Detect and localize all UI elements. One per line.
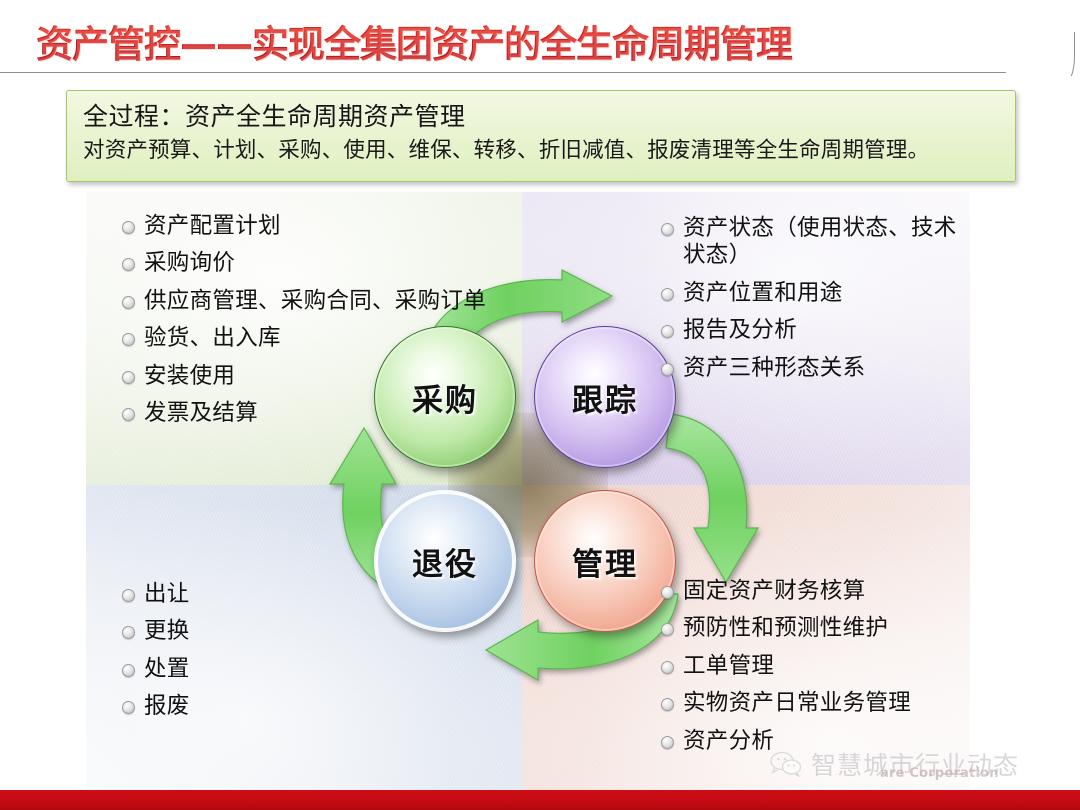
bullet-dot-icon	[122, 664, 135, 677]
bullet-dot-icon	[661, 325, 674, 338]
cycle-node-label: 退役	[412, 539, 478, 584]
subtitle-heading: 全过程：资产全生命周期资产管理	[83, 101, 999, 135]
list-item-label: 预防性和预测性维护	[683, 614, 970, 641]
list-item: 更换	[122, 617, 372, 644]
list-item-label: 资产状态（使用状态、技术状态）	[683, 214, 966, 269]
list-item-label: 资产配置计划	[144, 212, 542, 239]
list-item: 出让	[122, 580, 372, 607]
bullet-dot-icon	[122, 408, 135, 421]
list-item: 固定资产财务核算	[661, 577, 970, 604]
list-item: 供应商管理、采购合同、采购订单	[122, 287, 542, 314]
cycle-node-manage[interactable]: 管理	[534, 490, 676, 632]
bottom-accent-bar	[0, 790, 1080, 810]
bullet-dot-icon	[661, 288, 674, 301]
list-item: 预防性和预测性维护	[661, 614, 970, 641]
bullet-list-tracking: 资产状态（使用状态、技术状态） 资产位置和用途 报告及分析 资产三种形态关系	[661, 214, 966, 391]
list-item: 资产状态（使用状态、技术状态）	[661, 214, 966, 269]
subtitle-callout-box: 全过程：资产全生命周期资产管理 对资产预算、计划、采购、使用、维保、转移、折旧减…	[66, 90, 1016, 182]
list-item: 实物资产日常业务管理	[661, 689, 970, 716]
bullet-dot-icon	[661, 586, 674, 599]
bullet-dot-icon	[122, 626, 135, 639]
cycle-node-label: 管理	[572, 539, 638, 584]
bullet-dot-icon	[661, 363, 674, 376]
watermark-label: 智慧城市行业动态	[811, 746, 1019, 782]
title-underline-divider	[0, 72, 1006, 73]
page-title: 资产管控——实现全集团资产的全生命周期管理	[36, 14, 792, 68]
list-item: 验货、出入库	[122, 324, 542, 351]
bullet-dot-icon	[122, 258, 135, 271]
bullet-dot-icon	[661, 661, 674, 674]
list-item: 资产配置计划	[122, 212, 542, 239]
cycle-node-track[interactable]: 跟踪	[534, 326, 676, 468]
list-item-label: 处置	[144, 655, 372, 682]
bullet-list-management: 固定资产财务核算 预防性和预测性维护 工单管理 实物资产日常业务管理 资产分析	[661, 577, 970, 764]
bullet-dot-icon	[122, 589, 135, 602]
lifecycle-diagram-panel: 资产配置计划 采购询价 供应商管理、采购合同、采购订单 验货、出入库 安装使用 …	[86, 192, 970, 790]
watermark: 智慧城市行业动态	[770, 746, 1019, 782]
list-item: 报告及分析	[661, 316, 966, 343]
list-item: 资产位置和用途	[661, 279, 966, 306]
list-item-label: 发票及结算	[144, 399, 542, 426]
list-item-label: 更换	[144, 617, 372, 644]
bullet-list-retirement: 出让 更换 处置 报废	[122, 580, 372, 730]
list-item-label: 出让	[144, 580, 372, 607]
bullet-dot-icon	[122, 371, 135, 384]
list-item-label: 实物资产日常业务管理	[683, 689, 970, 716]
list-item-label: 报告及分析	[683, 316, 966, 343]
list-item-label: 采购询价	[144, 249, 542, 276]
list-item-label: 安装使用	[144, 362, 542, 389]
list-item: 采购询价	[122, 249, 542, 276]
cycle-node-retire[interactable]: 退役	[374, 490, 516, 632]
list-item: 报废	[122, 692, 372, 719]
bullet-dot-icon	[122, 296, 135, 309]
list-item: 工单管理	[661, 652, 970, 679]
bullet-dot-icon	[122, 221, 135, 234]
bullet-dot-icon	[661, 736, 674, 749]
bullet-dot-icon	[661, 698, 674, 711]
list-item-label: 验货、出入库	[144, 324, 542, 351]
list-item-label: 资产三种形态关系	[683, 354, 966, 381]
list-item: 资产三种形态关系	[661, 354, 966, 381]
bullet-dot-icon	[661, 623, 674, 636]
bullet-dot-icon	[122, 701, 135, 714]
bullet-dot-icon	[661, 223, 674, 236]
bullet-dot-icon	[122, 333, 135, 346]
arrow-track-to-manage-icon	[660, 410, 770, 600]
title-bar: 资产管控——实现全集团资产的全生命周期管理	[0, 0, 1080, 78]
list-item: 发票及结算	[122, 399, 542, 426]
list-item: 安装使用	[122, 362, 542, 389]
list-item: 处置	[122, 655, 372, 682]
list-item-label: 报废	[144, 692, 372, 719]
list-item-label: 工单管理	[683, 652, 970, 679]
bullet-list-procurement: 资产配置计划 采购询价 供应商管理、采购合同、采购订单 验货、出入库 安装使用 …	[122, 212, 542, 437]
list-item-label: 供应商管理、采购合同、采购订单	[144, 287, 542, 314]
list-item-label: 固定资产财务核算	[683, 577, 970, 604]
wechat-icon	[770, 751, 804, 777]
list-item-label: 资产位置和用途	[683, 279, 966, 306]
cycle-node-label: 跟踪	[572, 375, 638, 420]
subtitle-description: 对资产预算、计划、采购、使用、维保、转移、折旧减值、报废清理等全生命周期管理。	[83, 136, 999, 165]
title-corner-sweep-decoration	[994, 32, 1080, 76]
